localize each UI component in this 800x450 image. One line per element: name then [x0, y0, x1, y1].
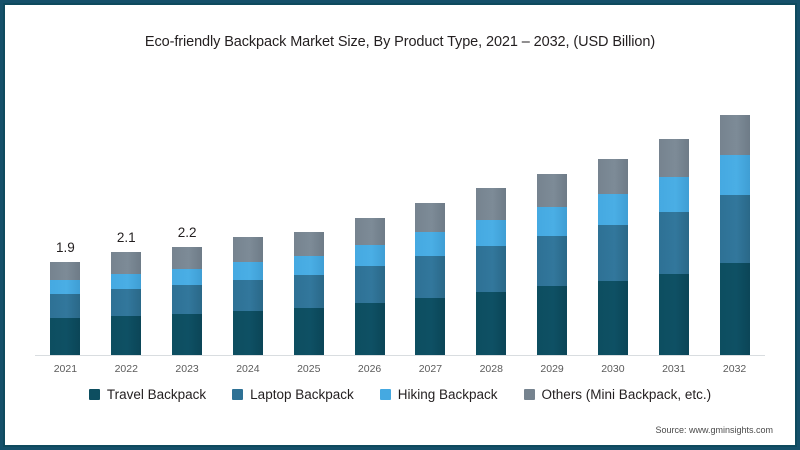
bar-value-label: 1.9	[35, 240, 95, 255]
legend-swatch-icon	[232, 389, 243, 400]
bar-column-2022	[111, 252, 141, 355]
bar-segment	[50, 262, 80, 281]
bar-column-2026	[355, 218, 385, 355]
bar-segment	[233, 280, 263, 311]
bar-segment	[294, 256, 324, 275]
x-axis-tick-2028: 2028	[461, 363, 521, 375]
x-axis-line	[35, 355, 765, 356]
bar-segment	[172, 314, 202, 355]
bar-segment	[476, 246, 506, 292]
bar-value-label: 2.2	[157, 225, 217, 240]
x-axis-tick-2022: 2022	[96, 363, 156, 375]
bar-column-2032	[720, 115, 750, 355]
bar-column-2027	[415, 203, 445, 355]
bar-segment	[598, 225, 628, 281]
bar-segment	[476, 188, 506, 219]
bar-segment	[415, 203, 445, 232]
bar-segment	[659, 212, 689, 274]
bar-segment	[111, 289, 141, 316]
legend-label: Others (Mini Backpack, etc.)	[542, 387, 712, 402]
bar-segment	[476, 220, 506, 246]
bar-segment	[659, 139, 689, 177]
bar-segment	[355, 245, 385, 266]
x-axis-tick-2029: 2029	[522, 363, 582, 375]
bar-segment	[172, 247, 202, 269]
legend-item[interactable]: Hiking Backpack	[380, 387, 498, 402]
bar-segment	[50, 280, 80, 293]
bar-column-2031	[659, 139, 689, 355]
bar-segment	[415, 256, 445, 298]
chart-canvas: Eco-friendly Backpack Market Size, By Pr…	[5, 5, 795, 445]
bar-segment	[537, 174, 567, 208]
bar-segment	[355, 218, 385, 245]
x-axis-tick-2031: 2031	[644, 363, 704, 375]
chart-legend: Travel BackpackLaptop BackpackHiking Bac…	[5, 387, 795, 402]
bar-column-2024	[233, 237, 263, 355]
page-title: Eco-friendly Backpack Market Size, By Pr…	[5, 34, 795, 50]
bar-column-2028	[476, 188, 506, 355]
bar-segment	[537, 286, 567, 355]
x-axis-tick-2024: 2024	[218, 363, 278, 375]
legend-label: Travel Backpack	[107, 387, 206, 402]
bar-segment	[476, 292, 506, 355]
bar-segment	[294, 275, 324, 308]
legend-swatch-icon	[380, 389, 391, 400]
bar-segment	[415, 232, 445, 256]
bar-segment	[50, 318, 80, 355]
bar-segment	[233, 237, 263, 262]
bar-segment	[111, 274, 141, 289]
bar-segment	[537, 236, 567, 287]
bar-segment	[598, 159, 628, 194]
plot-area	[35, 100, 765, 355]
legend-swatch-icon	[524, 389, 535, 400]
bar-segment	[294, 232, 324, 256]
bar-segment	[720, 155, 750, 195]
bar-segment	[111, 252, 141, 274]
bar-segment	[598, 281, 628, 355]
bar-segment	[598, 194, 628, 225]
x-axis-tick-2030: 2030	[583, 363, 643, 375]
bar-segment	[415, 298, 445, 355]
bar-segment	[355, 266, 385, 303]
x-axis-tick-2025: 2025	[279, 363, 339, 375]
bar-segment	[172, 285, 202, 313]
chart-frame: Eco-friendly Backpack Market Size, By Pr…	[0, 0, 800, 450]
bar-segment	[294, 308, 324, 355]
legend-label: Hiking Backpack	[398, 387, 498, 402]
bar-segment	[233, 311, 263, 355]
x-axis-tick-2032: 2032	[705, 363, 765, 375]
x-axis-tick-2026: 2026	[340, 363, 400, 375]
legend-swatch-icon	[89, 389, 100, 400]
bar-value-label: 2.1	[96, 230, 156, 245]
x-axis-tick-2027: 2027	[400, 363, 460, 375]
bar-segment	[233, 262, 263, 280]
bar-segment	[659, 177, 689, 212]
bar-segment	[172, 269, 202, 285]
bar-segment	[720, 263, 750, 355]
bar-segment	[720, 115, 750, 155]
bar-segment	[111, 316, 141, 355]
bar-segment	[720, 195, 750, 263]
bar-column-2021	[50, 262, 80, 355]
legend-item[interactable]: Travel Backpack	[89, 387, 206, 402]
bar-column-2023	[172, 247, 202, 355]
bar-segment	[659, 274, 689, 355]
bar-segment	[537, 207, 567, 235]
bar-column-2029	[537, 174, 567, 355]
bar-column-2030	[598, 159, 628, 355]
x-axis-tick-2021: 2021	[35, 363, 95, 375]
legend-item[interactable]: Others (Mini Backpack, etc.)	[524, 387, 712, 402]
source-note: Source: www.gminsights.com	[655, 425, 773, 435]
legend-item[interactable]: Laptop Backpack	[232, 387, 354, 402]
x-axis-tick-2023: 2023	[157, 363, 217, 375]
bar-column-2025	[294, 232, 324, 355]
legend-label: Laptop Backpack	[250, 387, 354, 402]
bar-segment	[50, 294, 80, 319]
bar-segment	[355, 303, 385, 355]
